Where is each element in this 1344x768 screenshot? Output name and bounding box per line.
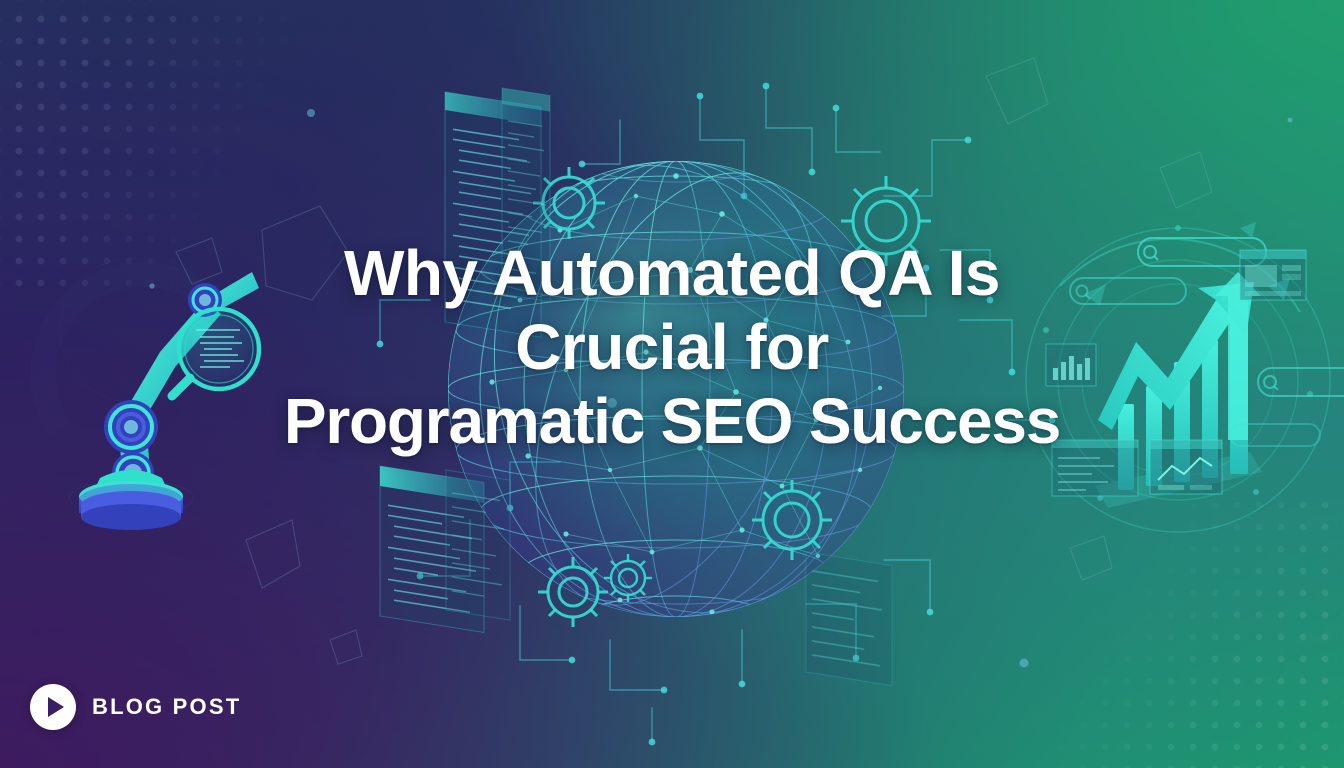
page-title: Why Automated QA Is Crucial for Programa… bbox=[0, 236, 1344, 458]
title-line-1: Why Automated QA Is bbox=[120, 236, 1224, 310]
title-line-3: Programatic SEO Success bbox=[120, 384, 1224, 458]
hero-banner: Why Automated QA Is Crucial for Programa… bbox=[0, 0, 1344, 768]
title-line-2: Crucial for bbox=[120, 310, 1224, 384]
blog-post-label: BLOG POST bbox=[92, 694, 241, 720]
dot-pattern-bottom-right bbox=[1044, 488, 1344, 768]
play-icon[interactable] bbox=[30, 684, 76, 730]
blog-post-badge[interactable]: BLOG POST bbox=[30, 684, 241, 730]
play-triangle bbox=[48, 697, 64, 717]
